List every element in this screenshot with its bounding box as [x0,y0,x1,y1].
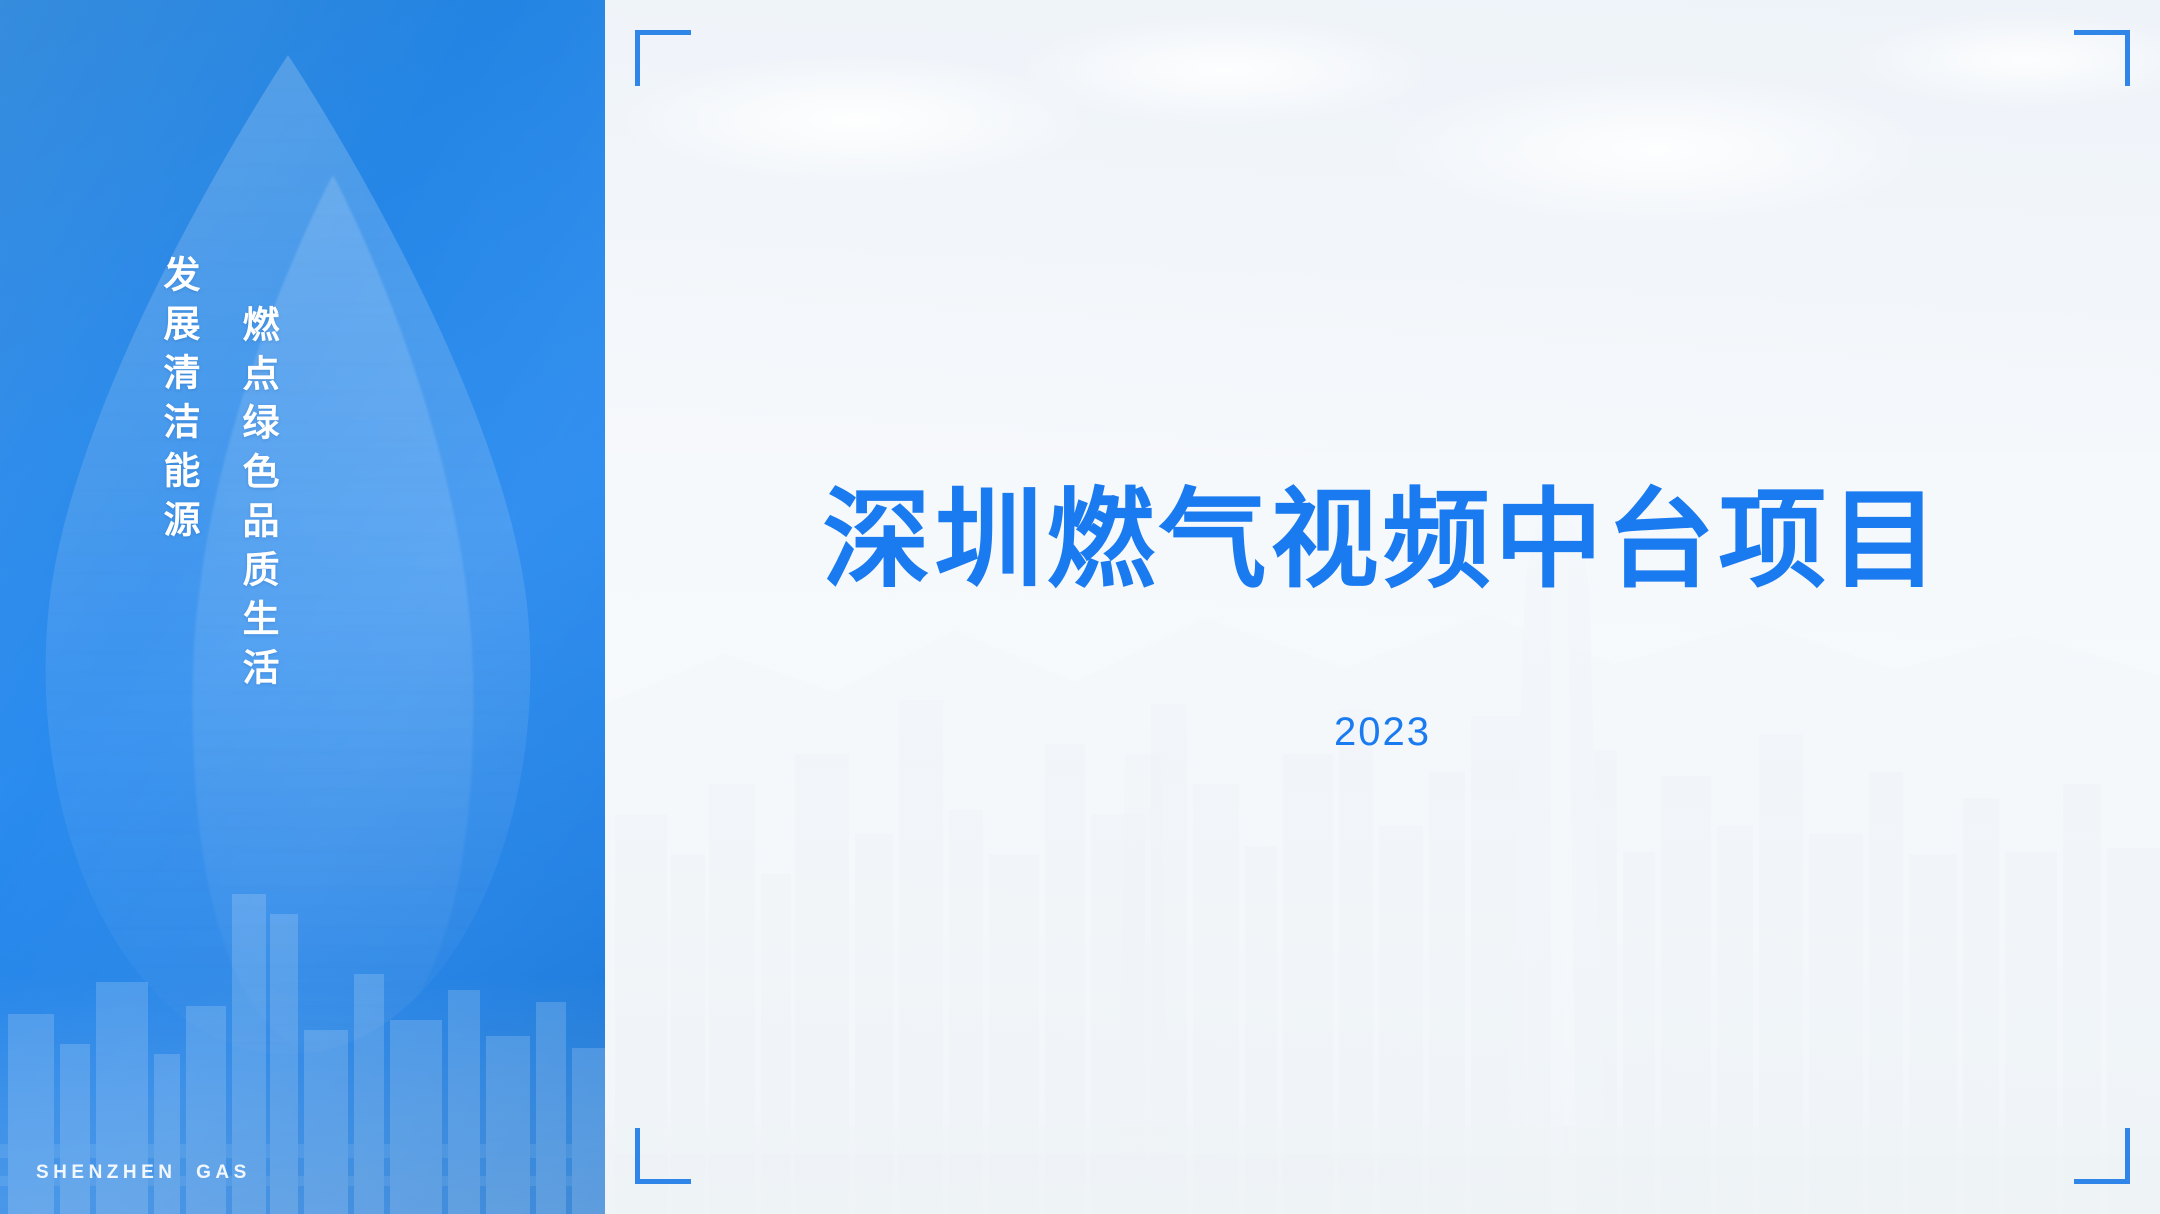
slogan-line-2: 燃点绿色品质生活 [239,305,276,697]
page-title: 深圳燃气视频中台项目 [822,481,1942,600]
title-block: 深圳燃气视频中台项目 2023 [605,0,2160,1214]
shenzhen-gas-wordmark: SHENZHEN GAS [36,1162,251,1184]
left-brand-panel: 发展清洁能源 燃点绿色品质生活 SHENZHEN GAS [0,0,605,1214]
slogan-line-1: 发展清洁能源 [160,255,197,697]
right-hero-panel: 深圳燃气视频中台项目 2023 [605,0,2160,1214]
year-label: 2023 [1334,710,1431,755]
title-slide: 发展清洁能源 燃点绿色品质生活 SHENZHEN GAS [0,0,2160,1214]
slogan-group: 发展清洁能源 燃点绿色品质生活 [160,255,276,697]
